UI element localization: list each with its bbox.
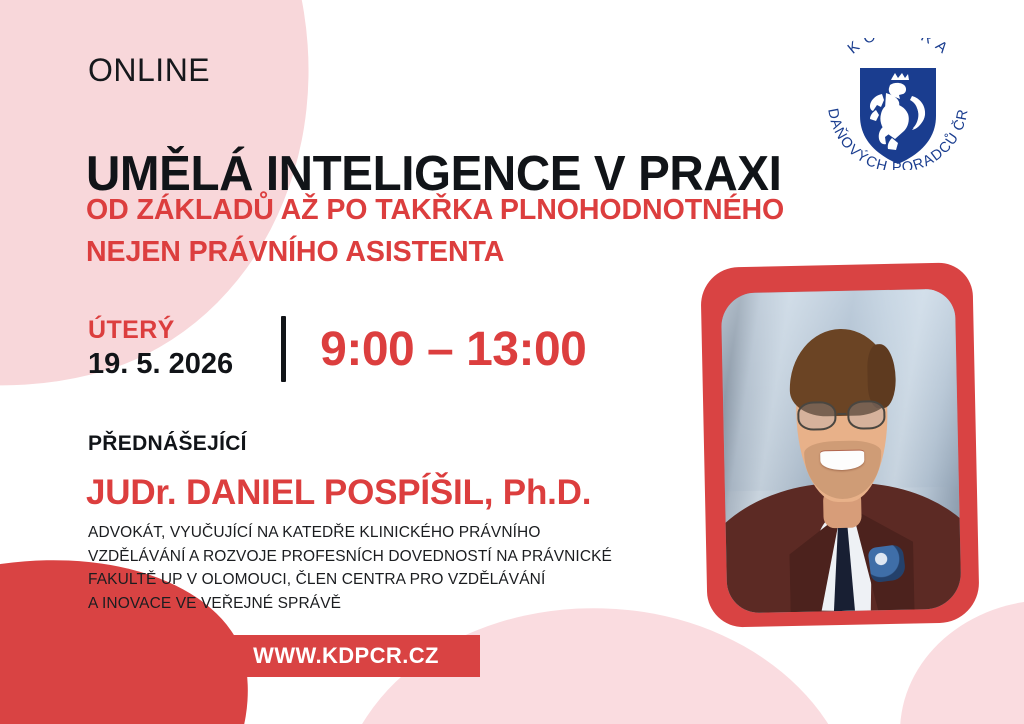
subtitle: OD ZÁKLADŮ AŽ PO TAKŘKA PLNOHODNOTNÉHO N… [86,189,784,273]
logo-text-top: K O M O R A [844,38,951,57]
speaker-name: JUDr. DANIEL POSPÍŠIL, Ph.D. [86,473,591,513]
poster-content: ONLINE UMĚLÁ INTELIGENCE V PRAXI OD ZÁKL… [0,0,1024,724]
promo-poster: ONLINE UMĚLÁ INTELIGENCE V PRAXI OD ZÁKL… [0,0,1024,724]
event-time: 9:00 – 13:00 [320,322,586,377]
subtitle-line-1: OD ZÁKLADŮ AŽ PO TAKŘKA PLNOHODNOTNÉHO [86,189,784,231]
glasses-icon [796,400,888,431]
speaker-bio: ADVOKÁT, VYUČUJÍCÍ NA KATEDŘE KLINICKÉHO… [88,521,612,615]
czech-lion-shield-icon: K O M O R A DAŇOVÝCH PORADCŮ ČR [812,38,984,170]
event-datetime: ÚTERÝ 19. 5. 2026 9:00 – 13:00 [88,315,586,383]
event-date-block: ÚTERÝ 19. 5. 2026 [88,315,233,383]
kicker-label: ONLINE [88,52,210,89]
glasses-lens-right [847,400,886,430]
subtitle-line-2: NEJEN PRÁVNÍHO ASISTENTA [86,231,784,273]
speaker-photo-frame [700,262,979,628]
speaker-label: PŘEDNÁŠEJÍCÍ [88,432,247,456]
glasses-lens-left [797,401,836,431]
speaker-photo [721,289,962,614]
speaker-bio-line-4: A INOVACE VE VEŘEJNÉ SPRÁVĚ [88,592,612,616]
event-weekday: ÚTERÝ [88,315,233,345]
website-button[interactable]: WWW.KDPCR.CZ [212,635,480,677]
speaker-bio-line-1: ADVOKÁT, VYUČUJÍCÍ NA KATEDŘE KLINICKÉHO… [88,521,612,545]
vertical-divider [281,316,286,382]
event-date: 19. 5. 2026 [88,345,233,383]
speaker-bio-line-3: FAKULTĚ UP V OLOMOUCI, ČLEN CENTRA PRO V… [88,568,612,592]
kdpcr-logo: K O M O R A DAŇOVÝCH PORADCŮ ČR [812,38,984,170]
speaker-bio-line-2: VZDĚLÁVÁNÍ A ROZVOJE PROFESNÍCH DOVEDNOS… [88,545,612,569]
glasses-bridge [837,413,846,415]
